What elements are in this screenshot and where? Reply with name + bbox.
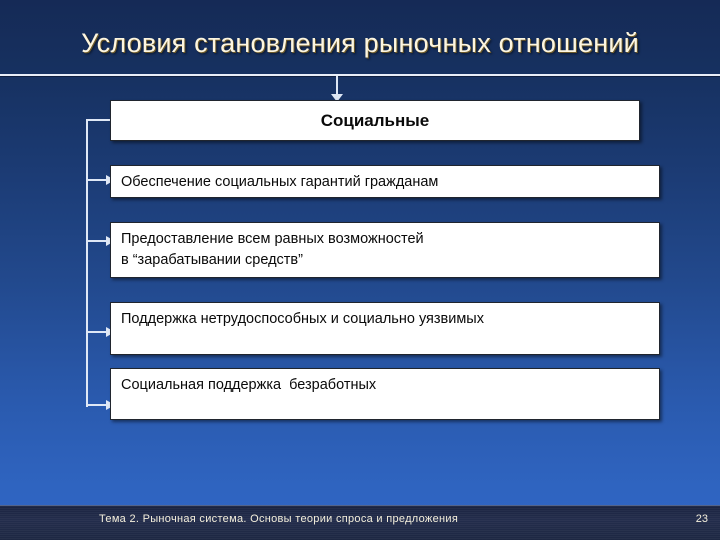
diagram-item-box-1: Обеспечение социальных гарантий граждана… xyxy=(110,165,660,198)
diagram-item-box-4: Социальная поддержка безработных xyxy=(110,368,660,420)
slide-page-number: 23 xyxy=(686,513,708,525)
footer-text: Тема 2. Рыночная система. Основы теории … xyxy=(99,513,458,525)
right-arrow-icon-2 xyxy=(86,240,106,242)
right-arrow-icon-4 xyxy=(86,404,106,406)
right-arrow-icon-3 xyxy=(86,331,106,333)
connector-spine xyxy=(86,119,88,407)
title-divider-rule xyxy=(0,74,720,76)
diagram-item-label-2: Предоставление всем равных возможностей … xyxy=(121,229,424,271)
diagram-item-box-2: Предоставление всем равных возможностей … xyxy=(110,222,660,278)
diagram-item-label-3: Поддержка нетрудоспособных и социально у… xyxy=(121,309,484,330)
diagram-head-box: Социальные xyxy=(110,100,640,141)
presentation-slide: Условия становления рыночных отношений С… xyxy=(0,0,720,540)
page-title: Условия становления рыночных отношений xyxy=(0,26,720,60)
down-arrow-stem xyxy=(336,76,338,96)
diagram-item-box-3: Поддержка нетрудоспособных и социально у… xyxy=(110,302,660,355)
diagram-item-label-1: Обеспечение социальных гарантий граждана… xyxy=(121,172,438,193)
right-arrow-icon-1 xyxy=(86,179,106,181)
diagram-head-box-label: Социальные xyxy=(111,110,639,132)
diagram-item-label-4: Социальная поддержка безработных xyxy=(121,375,376,396)
connector-spine-top-leg xyxy=(86,119,112,121)
